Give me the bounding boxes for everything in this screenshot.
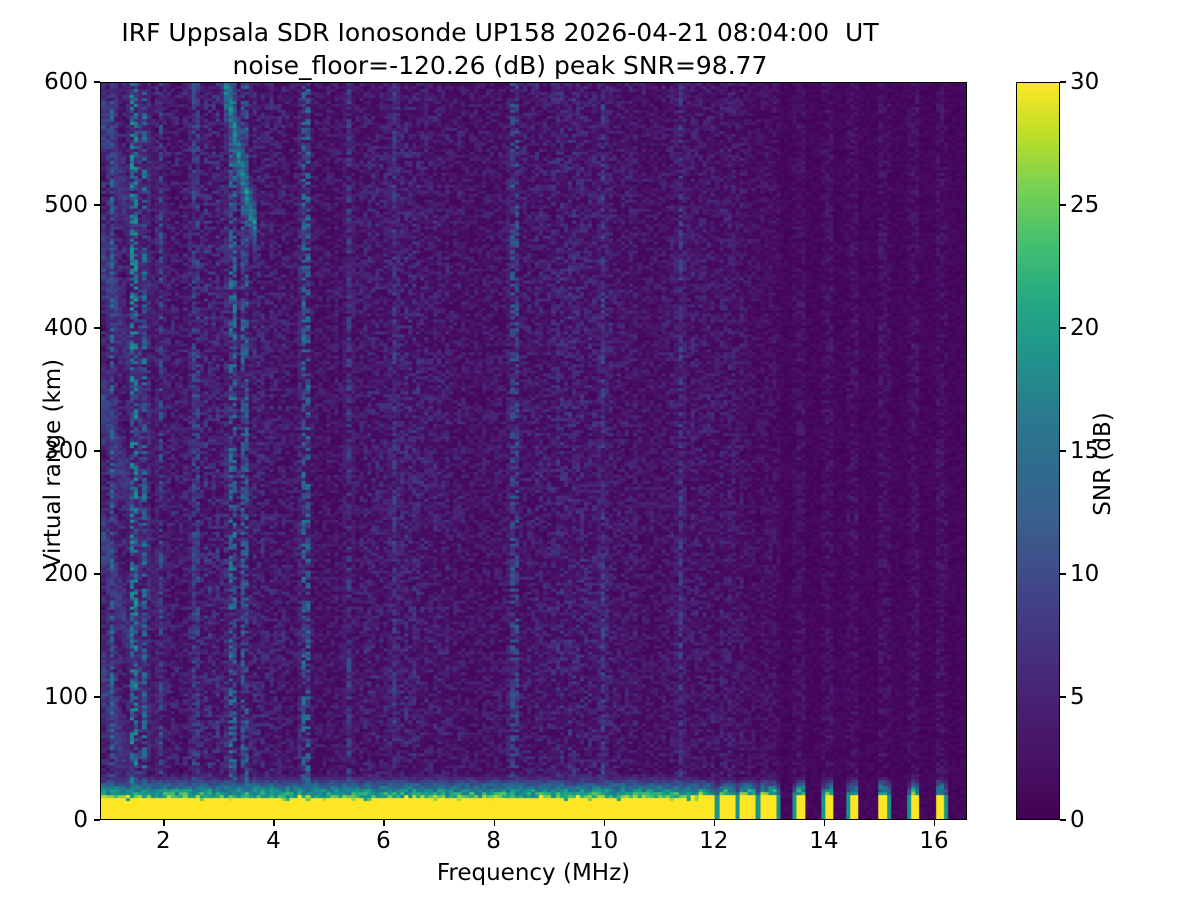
colorbar-tick-mark bbox=[1060, 573, 1066, 574]
ionogram-figure: IRF Uppsala SDR Ionosonde UP158 2026-04-… bbox=[0, 0, 1200, 900]
x-tick-mark bbox=[163, 820, 164, 826]
y-tick-mark bbox=[94, 81, 100, 82]
colorbar-label: SNR (dB) bbox=[1090, 264, 1116, 664]
snr-colorbar bbox=[1016, 82, 1060, 820]
y-tick-mark bbox=[94, 696, 100, 697]
y-tick-mark bbox=[94, 819, 100, 820]
ionogram-heatmap bbox=[101, 83, 966, 819]
x-axis-label: Frequency (MHz) bbox=[100, 860, 967, 886]
colorbar-tick-label: 25 bbox=[1070, 192, 1099, 218]
x-tick-label: 10 bbox=[589, 828, 618, 854]
x-tick-mark bbox=[273, 820, 274, 826]
x-tick-label: 12 bbox=[699, 828, 728, 854]
x-tick-label: 4 bbox=[266, 828, 281, 854]
y-axis-label: Virtual range (km) bbox=[40, 264, 66, 664]
x-tick-mark bbox=[383, 820, 384, 826]
x-tick-label: 8 bbox=[486, 828, 501, 854]
colorbar-tick-mark bbox=[1060, 819, 1066, 820]
y-tick-label: 100 bbox=[44, 684, 88, 710]
y-tick-mark bbox=[94, 204, 100, 205]
x-tick-label: 14 bbox=[809, 828, 838, 854]
colorbar-tick-mark bbox=[1060, 81, 1066, 82]
x-tick-mark bbox=[824, 820, 825, 826]
title-line-2: noise_floor=-120.26 (dB) peak SNR=98.77 bbox=[0, 49, 1000, 82]
colorbar-tick-label: 30 bbox=[1070, 69, 1099, 95]
figure-title: IRF Uppsala SDR Ionosonde UP158 2026-04-… bbox=[0, 16, 1000, 82]
y-tick-label: 600 bbox=[44, 69, 88, 95]
y-tick-label: 500 bbox=[44, 192, 88, 218]
x-tick-mark bbox=[494, 820, 495, 826]
x-tick-mark bbox=[714, 820, 715, 826]
y-tick-mark bbox=[94, 573, 100, 574]
ionogram-plot-area bbox=[100, 82, 967, 820]
x-tick-label: 6 bbox=[376, 828, 391, 854]
x-tick-mark bbox=[934, 820, 935, 826]
colorbar-tick-mark bbox=[1060, 450, 1066, 451]
colorbar-tick-mark bbox=[1060, 327, 1066, 328]
y-tick-mark bbox=[94, 327, 100, 328]
colorbar-tick-mark bbox=[1060, 696, 1066, 697]
x-tick-mark bbox=[604, 820, 605, 826]
colorbar-tick-label: 5 bbox=[1070, 684, 1085, 710]
y-tick-mark bbox=[94, 450, 100, 451]
colorbar-tick-mark bbox=[1060, 204, 1066, 205]
x-tick-label: 2 bbox=[156, 828, 171, 854]
title-line-1: IRF Uppsala SDR Ionosonde UP158 2026-04-… bbox=[0, 16, 1000, 49]
colorbar-tick-label: 0 bbox=[1070, 807, 1085, 833]
y-tick-label: 0 bbox=[73, 807, 88, 833]
x-tick-label: 16 bbox=[919, 828, 948, 854]
